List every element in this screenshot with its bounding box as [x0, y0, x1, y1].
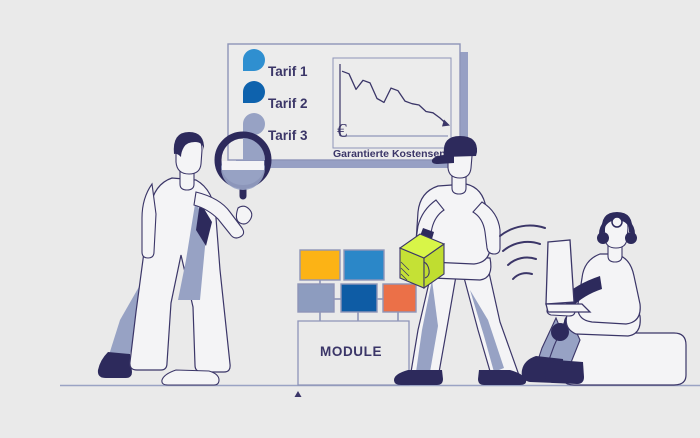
legend-label-3: Tarif 3	[268, 128, 308, 143]
legend-label-2: Tarif 2	[268, 96, 308, 111]
block-orange-red	[383, 284, 416, 312]
droplet-icon	[243, 81, 265, 103]
illustration-canvas: Tarif 1 Tarif 2 Tarif 3 € Garantierte K	[0, 0, 700, 438]
droplet-icon	[243, 49, 265, 71]
currency-symbol: €	[337, 120, 347, 142]
legend-label-1: Tarif 1	[268, 64, 308, 79]
magnifier-lens-strip	[222, 161, 264, 170]
scene-svg: Tarif 1 Tarif 2 Tarif 3 € Garantierte K	[0, 0, 700, 438]
block-blue-light	[344, 250, 384, 280]
headphone-top-detail	[612, 217, 622, 227]
block-orange	[300, 250, 340, 280]
carrier-neck	[452, 176, 466, 194]
laptop-screen	[546, 240, 574, 304]
block-grayblue	[298, 284, 334, 312]
inspector-hand	[236, 206, 251, 224]
block-blue-dark	[341, 284, 377, 312]
module-label: MODULE	[320, 344, 382, 359]
inspector-front-shoe	[162, 370, 219, 385]
headphone-cup-left	[597, 232, 609, 244]
laptop-base	[546, 304, 590, 312]
carrier-cap	[444, 136, 477, 157]
headphone-cup-right	[625, 232, 637, 244]
user-boot-2	[545, 360, 584, 384]
